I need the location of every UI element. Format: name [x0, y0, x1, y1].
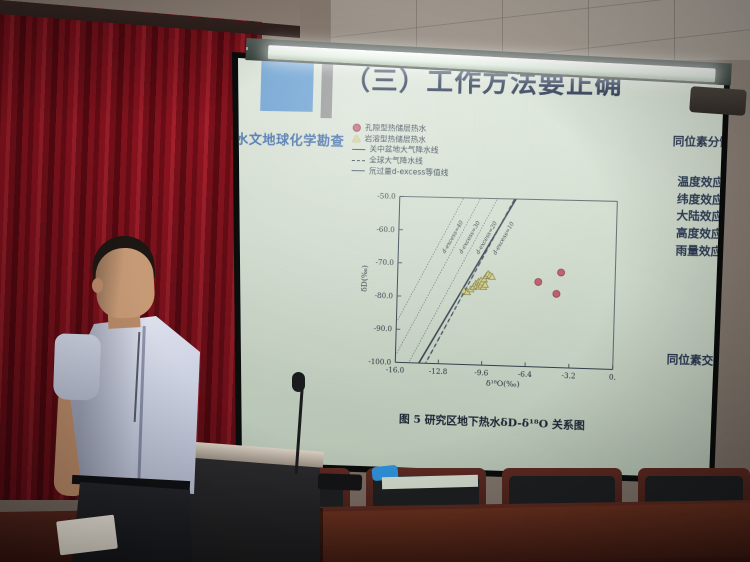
svg-text:-80.0: -80.0	[375, 292, 394, 301]
microphone-base	[318, 473, 363, 491]
handheld-papers	[56, 515, 118, 556]
svg-text:δD(‰): δD(‰)	[359, 265, 369, 292]
solid-line-icon	[352, 149, 365, 150]
presenter-sleeve	[53, 333, 101, 401]
slide-section-label: 水文地球化学勘查	[235, 129, 344, 150]
svg-text:-3.2: -3.2	[561, 372, 575, 381]
projector-screen: （三）工作方法要正确 水文地球化学勘查 孔隙型热储层热水 岩溶型热储层热水 关中…	[206, 36, 730, 486]
slide-accent-bar	[321, 56, 334, 119]
svg-text:-9.6: -9.6	[474, 369, 488, 378]
desk-papers	[382, 475, 478, 490]
circle-marker-icon	[353, 124, 361, 132]
svg-text:-90.0: -90.0	[374, 325, 393, 334]
presenter-ear	[92, 278, 103, 293]
front-desk-panel	[250, 503, 750, 562]
desk-seam	[320, 508, 323, 562]
thin-line-icon	[352, 170, 365, 171]
delta-d-delta-o18-scatter-chart: -16.0-12.8-9.6-6.4-3.20.-100.0-90.0-80.0…	[351, 183, 626, 410]
isotope-fractionation-heading: 同位素分馏	[673, 133, 730, 151]
svg-text:-60.0: -60.0	[376, 225, 395, 234]
svg-text:0.: 0.	[609, 373, 616, 381]
svg-text:δ¹⁸O(‰): δ¹⁸O(‰)	[486, 379, 520, 389]
projector-mount	[689, 86, 747, 116]
svg-text:-100.0: -100.0	[368, 358, 391, 367]
svg-text:-70.0: -70.0	[375, 259, 394, 268]
legend-item-4: 氘过量d-excess等值线	[351, 166, 448, 179]
screenshot-root: （三）工作方法要正确 水文地球化学勘查 孔隙型热储层热水 岩溶型热储层热水 关中…	[0, 0, 750, 562]
triangle-marker-icon	[352, 135, 360, 142]
microphone-head-icon	[292, 372, 305, 392]
face-shading	[94, 247, 156, 320]
presenter	[44, 236, 204, 562]
dashed-line-icon	[352, 160, 365, 161]
svg-text:-12.8: -12.8	[429, 367, 448, 376]
figure-caption: 图 5 研究区地下热水δD-δ¹⁸O 关系图	[322, 408, 664, 436]
chart-svg: -16.0-12.8-9.6-6.4-3.20.-100.0-90.0-80.0…	[351, 183, 626, 410]
svg-text:-16.0: -16.0	[386, 366, 405, 375]
slide-accent-square	[260, 61, 314, 112]
svg-text:-50.0: -50.0	[377, 192, 396, 201]
legend-label: 氘过量d-excess等值线	[369, 166, 449, 178]
svg-text:-6.4: -6.4	[518, 370, 533, 379]
chart-legend: 孔隙型热储层热水 岩溶型热储层热水 关中盆地大气降水线 全球大气降水线 氘过量d…	[351, 123, 449, 179]
presentation-slide: （三）工作方法要正确 水文地球化学勘查 孔隙型热储层热水 岩溶型热储层热水 关中…	[206, 36, 730, 486]
